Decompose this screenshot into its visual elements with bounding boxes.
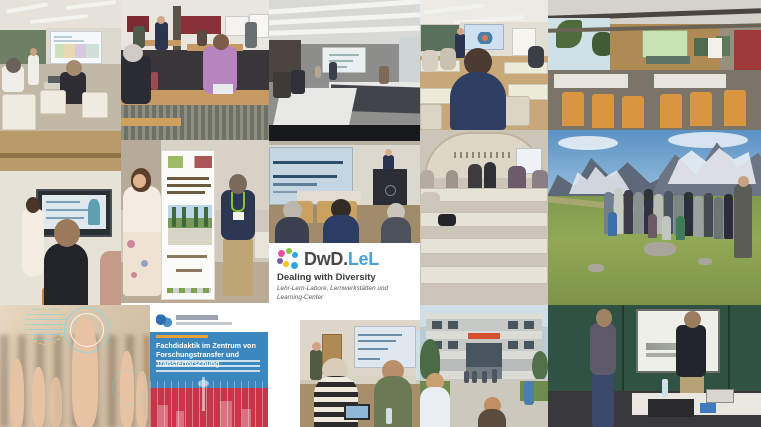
man-head — [684, 311, 701, 328]
window — [399, 38, 420, 86]
presenter-head — [457, 28, 464, 35]
chair — [724, 90, 746, 126]
group-of-people — [604, 186, 754, 238]
raised-hand — [10, 359, 24, 427]
standing-person — [155, 22, 168, 50]
lecture-room-presenter-photo — [0, 0, 121, 131]
chair — [592, 94, 614, 128]
person-foreground — [734, 184, 752, 258]
presenter-body — [310, 350, 322, 380]
attendee-head — [66, 60, 82, 76]
lecture-desk-row — [420, 266, 548, 284]
tv-tower — [202, 377, 205, 411]
logo-wordmark-dwd: DwD. — [304, 249, 348, 269]
flyer-headline-line1: Fachdidaktik im Zentrum von — [156, 341, 266, 350]
seated-person — [379, 66, 389, 84]
chair — [420, 104, 442, 130]
equipment-box — [648, 399, 694, 417]
attendee-head — [54, 219, 80, 247]
presenter-head — [30, 48, 37, 56]
rock — [644, 242, 676, 256]
water-bottle — [662, 379, 668, 397]
participant — [374, 376, 412, 427]
lectern-emblem — [385, 185, 396, 196]
alpine-group-photo — [548, 130, 761, 305]
green-chalkboard — [420, 24, 460, 52]
person — [197, 30, 207, 46]
man-jacket — [676, 325, 706, 377]
woman-top — [590, 323, 616, 375]
podium-lecture-photo — [269, 125, 420, 243]
dress-pattern — [127, 240, 135, 248]
projection-screen — [50, 31, 102, 64]
foreground-attendee — [44, 243, 88, 310]
dress-pattern — [141, 260, 148, 267]
digital-overlay-ring — [70, 313, 104, 347]
wood-seminar-room-photo — [548, 0, 761, 130]
cloud — [668, 132, 748, 148]
flipchart — [708, 38, 722, 58]
flyer-kicker — [156, 335, 208, 338]
seated-person — [121, 56, 151, 104]
student — [440, 48, 456, 70]
classroom-presentation-photo — [420, 0, 548, 130]
raised-hand — [32, 367, 45, 427]
woman-presenting-photo — [0, 131, 121, 310]
person-head — [213, 34, 229, 50]
green-chalkboard — [0, 30, 46, 64]
table-edge — [121, 118, 181, 126]
projection-screen — [464, 24, 504, 50]
raised-hand — [50, 377, 62, 427]
papers — [213, 84, 233, 94]
presenter-body — [28, 55, 39, 85]
upper-photo-edge — [0, 131, 121, 171]
conference-banner-people-photo — [121, 140, 269, 303]
table — [554, 74, 628, 88]
gfd-flyer-panel: Fachdidaktik im Zentrum von Forschungstr… — [150, 310, 268, 427]
chair — [622, 96, 644, 128]
foreground-student — [450, 72, 506, 130]
gfd-wordmark — [176, 315, 218, 320]
logo-subtitle-line1: Lehr-Lern-Labore, Lernwerkstätten und — [269, 285, 420, 294]
person-head — [738, 176, 749, 187]
walking-person — [524, 381, 534, 405]
man-trousers — [223, 238, 253, 296]
name-badge — [233, 212, 244, 220]
flyer-body-text — [156, 358, 260, 372]
water-bottle — [386, 408, 392, 424]
cloud — [558, 136, 618, 150]
conference-rollup-banner — [161, 150, 215, 300]
foreground-person — [420, 387, 450, 427]
dwd-lel-mark-icon — [277, 248, 299, 270]
presenter-body — [455, 34, 465, 58]
man-head — [229, 174, 247, 194]
attendee-head — [6, 58, 21, 73]
projection-screen — [642, 30, 688, 58]
person — [245, 22, 257, 48]
rock — [698, 258, 712, 265]
university-building-photo — [420, 305, 548, 427]
logo-row: DwD.LeL — [269, 243, 420, 270]
logo-wordmark: DwD.LeL — [304, 250, 379, 268]
woman-head — [596, 309, 612, 327]
digital-overlay-ring — [112, 369, 148, 405]
tree — [532, 351, 548, 381]
speaker-head — [385, 149, 392, 156]
digital-overlay-ring — [28, 309, 64, 345]
coat-hooks — [454, 152, 514, 158]
table — [654, 74, 726, 88]
seated-person — [273, 72, 291, 98]
woman-presenter-head — [26, 197, 40, 213]
student — [528, 46, 544, 68]
logo-subtitle-line2: Learning-Center — [269, 294, 420, 303]
wooden-rail — [0, 153, 121, 158]
laptop — [706, 389, 734, 403]
raised-hands-photo — [0, 305, 150, 427]
woman-trousers — [592, 373, 614, 427]
attendee — [323, 215, 359, 243]
banner-sponsor-logos — [167, 288, 211, 293]
front-table — [646, 56, 690, 64]
attendee — [381, 217, 411, 243]
gfd-logo-icon — [156, 314, 172, 328]
foreground-person — [478, 409, 506, 427]
lecture-desk-row — [420, 238, 548, 254]
person — [484, 162, 496, 190]
rock — [588, 264, 604, 272]
blue-folder — [700, 403, 716, 413]
side-table — [255, 232, 269, 258]
student — [422, 50, 438, 72]
workshop-laptops-photo — [300, 320, 424, 427]
banner-logo — [168, 156, 212, 168]
chair — [562, 92, 584, 126]
woman-presenter-body — [22, 209, 44, 277]
logo-wordmark-lel: LeL — [348, 249, 379, 269]
plant — [556, 20, 582, 48]
presenter — [329, 62, 337, 80]
slide-illustration — [88, 199, 100, 225]
chair — [504, 96, 530, 126]
seated-person — [291, 70, 305, 94]
person-head — [157, 16, 165, 24]
woman-face — [133, 174, 146, 188]
chair — [690, 92, 712, 126]
dwd-lel-logo-panel: DwD.LeL Dealing with Diversity Lehr-Lern… — [269, 243, 420, 305]
laptop — [344, 404, 370, 420]
bag — [438, 214, 456, 226]
side-person — [100, 251, 121, 310]
building-banner — [468, 333, 500, 339]
modern-conference-room-photo — [269, 0, 420, 125]
logo-tagline: Dealing with Diversity — [269, 272, 420, 283]
chair — [82, 92, 108, 118]
chair — [660, 94, 682, 128]
chair — [40, 90, 66, 114]
red-wall-panel — [734, 30, 761, 74]
bottle — [151, 72, 158, 90]
person-head — [123, 44, 143, 62]
meeting-room-utable-photo — [121, 0, 269, 140]
lanyard — [231, 192, 245, 212]
chair — [2, 94, 36, 130]
dress-pattern — [131, 272, 137, 278]
presenter-head — [312, 342, 321, 351]
person — [315, 66, 321, 78]
photo-collage: DwD.LeL Dealing with Diversity Lehr-Lern… — [0, 0, 761, 427]
gfd-subline — [176, 322, 232, 325]
attendee — [275, 217, 309, 243]
lecture-hall-tiered-photo — [420, 130, 548, 305]
two-presenters-photo — [548, 305, 761, 427]
